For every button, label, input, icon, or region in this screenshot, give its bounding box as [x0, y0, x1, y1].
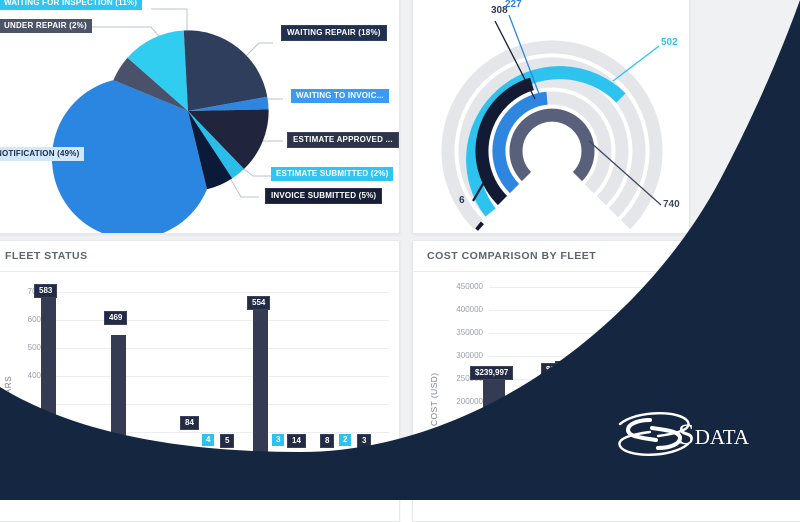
cost-ytick: 200000 [435, 397, 483, 406]
fleet-bar[interactable] [291, 472, 304, 476]
fleet-gridline [47, 376, 389, 377]
pie-label-invoice-submitted[interactable]: INVOICE SUBMITTED (5%) [265, 188, 382, 204]
cost-bar[interactable] [483, 366, 505, 491]
radial-gauge-panel: 308 227 502 6 740 [412, 0, 690, 234]
fleet-value-label: 4 [202, 434, 214, 446]
cost-gridline [489, 287, 800, 288]
fleet-bar[interactable] [41, 295, 56, 476]
cost-gridline [489, 379, 800, 380]
cost-value-label: $239,997 [470, 366, 513, 380]
logo-word-big: S [678, 418, 695, 451]
cost-ytick: 400000 [435, 305, 483, 314]
fleet-gridline [47, 404, 389, 405]
fleet-value-label: 3 [357, 434, 371, 448]
pie-label-notification[interactable]: NOTIFICATION (49%) [0, 147, 84, 161]
cost-gridline [489, 310, 800, 311]
fleet-bar[interactable] [181, 471, 195, 476]
fleet-bar[interactable] [253, 306, 268, 476]
fleet-status-panel: FLEET STATUS CARS 700 600 500 400 [0, 240, 400, 522]
cost-ytick: 100000 [435, 443, 483, 452]
fleet-value-label: 84 [180, 416, 199, 430]
fleet-bar[interactable] [203, 473, 216, 476]
fleet-status-header: FLEET STATUS [0, 241, 399, 272]
pie-label-waiting-to-invoice[interactable]: WAITING TO INVOIC... [291, 89, 389, 103]
radial-label-502[interactable]: 502 [661, 37, 678, 48]
pie-label-waiting-for-inspection[interactable]: WAITING FOR INSPECTION (11%) [0, 0, 142, 10]
cost-value-label: $248,471 [541, 363, 584, 377]
fleet-gridline [47, 292, 389, 293]
cost-ytick: 350000 [435, 328, 483, 337]
fleet-ytick: 500 [11, 343, 41, 352]
cost-value-label: $131,587 [498, 411, 539, 423]
fleet-value-label: 8 [320, 434, 334, 448]
fleet-bar[interactable] [223, 473, 236, 476]
fleet-ytick: 400 [11, 371, 41, 380]
fleet-gridline [47, 348, 389, 349]
pie-chart-area: WAITING FOR INSPECTION (11%) UNDER REPAI… [0, 0, 399, 233]
fleet-value-label: 554 [247, 296, 270, 310]
cost-ytick: 300000 [435, 351, 483, 360]
cost-comparison-plot: COST (USD) 450000 400000 350000 300000 2… [413, 271, 800, 521]
cost-comparison-header: COST COMPARISON BY FLEET [413, 241, 800, 272]
page-title: COST COMPARISON BY FLEET [427, 250, 596, 262]
fleet-value-label: 469 [104, 311, 127, 325]
fleet-value-label: 3 [272, 434, 284, 446]
cost-bar[interactable] [511, 419, 533, 491]
cost-gridline [489, 356, 800, 357]
cost-ytick: 150000 [435, 420, 483, 429]
fleet-gridline [47, 460, 389, 461]
page-title: FLEET STATUS [5, 250, 88, 262]
fleet-status-plot: CARS 700 600 500 400 [0, 271, 399, 521]
fleet-bar[interactable] [341, 473, 353, 476]
cost-comparison-panel: COST COMPARISON BY FLEET COST (USD) 4500… [412, 240, 800, 522]
cost-bar[interactable] [555, 361, 577, 491]
fleet-value-label: 2 [339, 434, 351, 446]
fleet-bar[interactable] [323, 473, 335, 476]
radial-label-227[interactable]: 227 [505, 0, 522, 10]
sdata-logo-text: SDATA [678, 418, 749, 452]
radial-gauge-chart [413, 0, 689, 233]
fleet-value-label: 583 [34, 284, 57, 298]
pie-label-estimate-approved[interactable]: ESTIMATE APPROVED ... [287, 132, 399, 148]
fleet-value-label: 5 [220, 434, 234, 448]
fleet-gridline [47, 320, 389, 321]
dashboard-root: WAITING FOR INSPECTION (11%) UNDER REPAI… [0, 0, 800, 500]
pie-chart-panel: WAITING FOR INSPECTION (11%) UNDER REPAI… [0, 0, 400, 234]
radial-label-6[interactable]: 6 [459, 195, 465, 206]
pie-label-waiting-repair[interactable]: WAITING REPAIR (18%) [281, 25, 387, 41]
fleet-bar[interactable] [359, 473, 371, 476]
cost-value-label: $1 [663, 301, 682, 315]
fleet-gridline [47, 432, 389, 433]
cost-ytick: 450000 [435, 282, 483, 291]
fleet-ytick: 600 [11, 315, 41, 324]
logo-word-small: DATA [695, 425, 749, 449]
cost-gridline [489, 333, 800, 334]
cost-bar[interactable] [583, 396, 605, 491]
pie-label-estimate-submitted[interactable]: ESTIMATE SUBMITTED (2%) [271, 167, 393, 181]
radial-label-740[interactable]: 740 [663, 199, 680, 210]
fleet-value-label: 14 [287, 434, 306, 448]
fleet-bar[interactable] [111, 335, 126, 476]
pie-label-under-repair[interactable]: UNDER REPAIR (2%) [0, 19, 92, 33]
fleet-bar[interactable] [274, 473, 287, 476]
